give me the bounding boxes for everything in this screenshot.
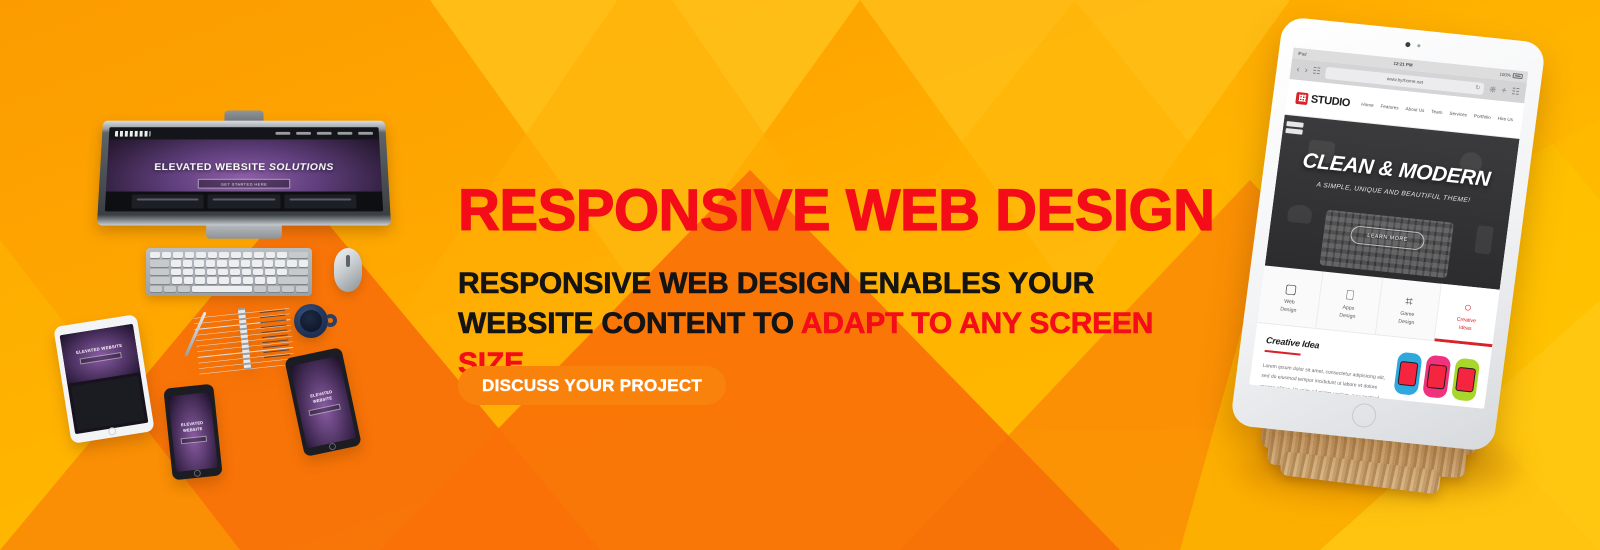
phone-large-screen: ELEVATED WEBSITE bbox=[290, 356, 356, 449]
site-menu-item-team[interactable]: Team bbox=[1431, 109, 1443, 115]
svc3-l2: Ideas bbox=[1458, 325, 1471, 332]
cup-handle bbox=[324, 314, 337, 327]
monitor-bezel: ELEVATED WEBSITE SOLUTIONS GET STARTED H… bbox=[97, 121, 391, 226]
right-tablet-scene: iPad 12:21 PM 100% ‹ › ☷ www.byrhome.net… bbox=[1198, 18, 1570, 538]
monitor-hero-button: GET STARTED HERE bbox=[198, 179, 291, 189]
forward-icon[interactable]: › bbox=[1304, 66, 1308, 75]
tablet-device: ELEVATED WEBSITE bbox=[53, 314, 154, 444]
tablet-screen: ELEVATED WEBSITE bbox=[60, 324, 149, 434]
svc0-l2: Design bbox=[1280, 306, 1297, 314]
service-tab-creative-ideas[interactable]: ○ CreativeIdeas bbox=[1434, 284, 1499, 347]
svc2-l2: Design bbox=[1398, 319, 1415, 327]
service-tab-web-design-label: WebDesign bbox=[1280, 299, 1298, 316]
new-tab-icon[interactable]: + bbox=[1501, 86, 1507, 95]
service-tab-apps-design[interactable]: ⎕ AppsDesign bbox=[1316, 272, 1382, 335]
tabs-icon[interactable]: ☷ bbox=[1511, 87, 1520, 97]
service-tab-apps-design-label: AppsDesign bbox=[1339, 305, 1357, 322]
copy-block: RESPONSIVE WEB DESIGN RESPONSIVE WEB DES… bbox=[458, 182, 1218, 384]
logo-prefix: STU bbox=[1310, 93, 1332, 107]
hero-deco-object-4 bbox=[1474, 225, 1494, 254]
battery-icon bbox=[1512, 73, 1523, 78]
phone-large-home-button bbox=[328, 442, 336, 450]
status-right-cluster: 100% bbox=[1499, 72, 1523, 79]
reload-icon[interactable]: ↻ bbox=[1475, 84, 1481, 91]
desktop-monitor: ELEVATED WEBSITE SOLUTIONS GET STARTED H… bbox=[97, 121, 391, 226]
site-section-rule bbox=[1265, 350, 1301, 355]
discuss-your-project-button[interactable]: DISCUSS YOUR PROJECT bbox=[458, 366, 726, 405]
monitor-hero-button-label: GET STARTED HERE bbox=[221, 181, 267, 186]
logo-mark-icon bbox=[1295, 91, 1309, 104]
tablet-showcase-screen: iPad 12:21 PM 100% ‹ › ☷ www.byrhome.net… bbox=[1249, 47, 1528, 408]
monitor-hero-title-plain: ELEVATED WEBSITE bbox=[154, 161, 269, 173]
phone-large-button bbox=[309, 404, 341, 416]
monitor-site-logo bbox=[115, 130, 151, 136]
mouse bbox=[334, 248, 362, 292]
site-menu-item-home[interactable]: Home bbox=[1361, 102, 1374, 108]
tablet-front-camera bbox=[1405, 42, 1421, 48]
monitor-screen: ELEVATED WEBSITE SOLUTIONS GET STARTED H… bbox=[105, 127, 383, 211]
hero-corner-tag bbox=[1285, 121, 1303, 135]
site-menu-item-portfolio[interactable]: Portfolio bbox=[1474, 113, 1491, 120]
coffee-cup bbox=[294, 304, 328, 338]
service-tab-creative-ideas-label: CreativeIdeas bbox=[1455, 317, 1476, 334]
monitor-hero-title-italic: SOLUTIONS bbox=[269, 161, 334, 173]
site-hero-banner: CLEAN & MODERN A SIMPLE, UNIQUE AND BEAU… bbox=[1265, 115, 1520, 290]
status-time: 12:21 PM bbox=[1393, 61, 1413, 68]
monitor-feature-cards bbox=[105, 192, 383, 212]
service-tab-game-design[interactable]: ⌗ GameDesign bbox=[1375, 278, 1441, 341]
phone-small-home-button bbox=[193, 469, 201, 477]
monitor-icon: ▢ bbox=[1284, 282, 1298, 296]
site-logo[interactable]: STUDIO bbox=[1295, 91, 1350, 108]
monitor-hero-title: ELEVATED WEBSITE SOLUTIONS bbox=[154, 161, 334, 173]
back-icon[interactable]: ‹ bbox=[1296, 65, 1300, 74]
tablet-home-button bbox=[108, 427, 117, 436]
share-icon[interactable]: ⎈ bbox=[1489, 85, 1497, 95]
notepad bbox=[193, 303, 295, 375]
smartwatch-lime bbox=[1451, 358, 1480, 402]
smartwatch-illustration bbox=[1393, 352, 1480, 402]
svc0-l1: Web bbox=[1284, 299, 1295, 306]
logo-suffix: DIO bbox=[1331, 95, 1351, 109]
site-menu-item-hire-us[interactable]: Hire Us bbox=[1497, 116, 1513, 123]
hero-deco-object-3 bbox=[1287, 204, 1313, 224]
mobile-icon: ⎕ bbox=[1345, 289, 1354, 303]
gamepad-icon: ⌗ bbox=[1404, 295, 1413, 309]
service-tab-web-design[interactable]: ▢ WebDesign bbox=[1257, 265, 1323, 328]
monitor-site-navbar bbox=[109, 127, 379, 139]
phone-small: ELEVATED WEBSITE bbox=[163, 384, 222, 481]
subheading-line-2-plain: WEBSITE CONTENT TO bbox=[458, 307, 801, 340]
monitor-site-menu bbox=[275, 132, 373, 135]
service-tab-game-design-label: GameDesign bbox=[1398, 311, 1416, 328]
tablet-home-button[interactable] bbox=[1351, 402, 1378, 428]
phone-small-screen: ELEVATED WEBSITE bbox=[168, 392, 218, 472]
smartwatch-blue bbox=[1393, 352, 1422, 396]
phone-small-button bbox=[181, 436, 207, 445]
site-menu-item-features[interactable]: Features bbox=[1380, 104, 1399, 111]
site-menu: Home Features About Us Team Services Por… bbox=[1361, 102, 1513, 123]
svc1-l1: Apps bbox=[1342, 305, 1355, 312]
svc2-l1: Game bbox=[1400, 311, 1415, 318]
phone-large: ELEVATED WEBSITE bbox=[284, 347, 362, 457]
tablet-lower-section bbox=[71, 376, 145, 431]
lightbulb-icon: ○ bbox=[1463, 301, 1473, 315]
subheading-line-1: RESPONSIVE WEB DESIGN ENABLES YOUR bbox=[458, 267, 1094, 300]
smartwatch-pink bbox=[1422, 355, 1451, 399]
keyboard bbox=[146, 248, 312, 296]
responsive-web-design-banner: ELEVATED WEBSITE SOLUTIONS GET STARTED H… bbox=[0, 0, 1600, 550]
status-carrier: iPad bbox=[1297, 51, 1306, 57]
monitor-stand-foot bbox=[206, 226, 282, 239]
address-bar-url: www.byrhome.net bbox=[1386, 76, 1423, 85]
bookmarks-icon[interactable]: ☷ bbox=[1312, 66, 1321, 76]
phone-small-title: ELEVATED WEBSITE bbox=[175, 419, 210, 434]
handwritten-note bbox=[259, 310, 290, 360]
subheading: RESPONSIVE WEB DESIGN ENABLES YOUR WEBSI… bbox=[458, 240, 1218, 384]
page-title: RESPONSIVE WEB DESIGN bbox=[458, 182, 1218, 240]
left-device-scene: ELEVATED WEBSITE SOLUTIONS GET STARTED H… bbox=[44, 96, 424, 486]
tablet-hero-button bbox=[80, 352, 122, 364]
tablet-hero: ELEVATED WEBSITE bbox=[60, 324, 141, 384]
status-battery-percent: 100% bbox=[1499, 72, 1511, 78]
site-menu-item-services[interactable]: Services bbox=[1449, 111, 1467, 118]
site-menu-item-about-us[interactable]: About Us bbox=[1405, 106, 1424, 113]
svc1-l2: Design bbox=[1339, 312, 1356, 320]
site-section-body-text: Lorem ipsum dolor sit amet, consectetur … bbox=[1258, 360, 1391, 408]
site-logo-text: STUDIO bbox=[1310, 93, 1351, 109]
showcase-tablet: iPad 12:21 PM 100% ‹ › ☷ www.byrhome.net… bbox=[1230, 16, 1546, 452]
svc3-l1: Creative bbox=[1456, 317, 1476, 325]
